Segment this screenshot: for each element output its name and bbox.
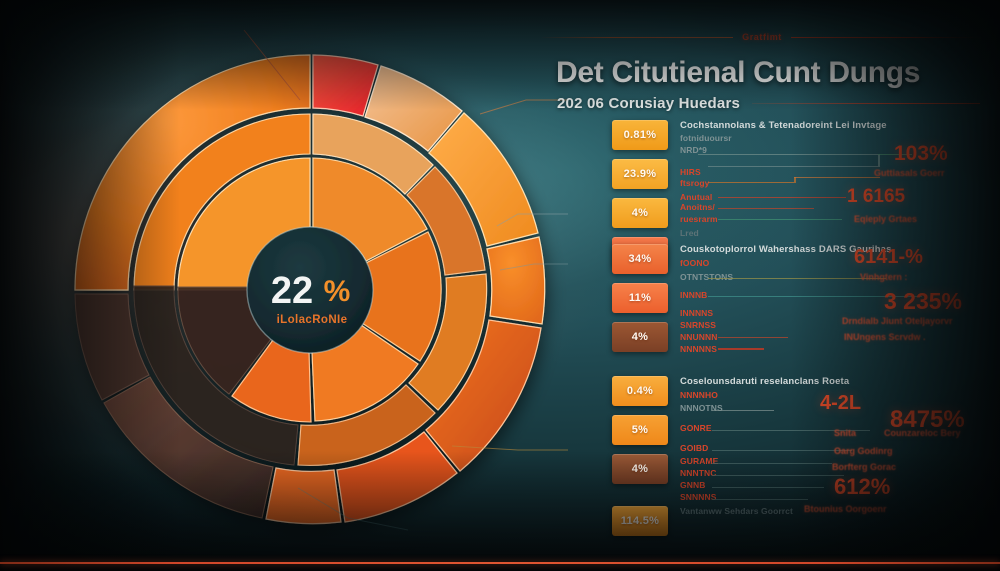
legend-row-text: INNNB (680, 290, 707, 300)
legend-row-text: GONRE (680, 423, 712, 433)
legend-row-text: Lred (680, 228, 699, 238)
legend-badge[interactable]: 4% (612, 322, 668, 352)
legend-row-text: INNNNS (680, 308, 713, 318)
legend-row-text: ftsrogy (680, 178, 710, 188)
legend-connector (718, 348, 764, 350)
legend-row-text: Anutual (680, 192, 712, 202)
legend-badge[interactable]: 11% (612, 283, 668, 313)
legend-badge[interactable]: 5% (612, 415, 668, 445)
legend-badge[interactable]: 4% (612, 198, 668, 228)
center-value: 22 (271, 270, 313, 312)
center-unit: % (324, 275, 351, 308)
legend-badge[interactable]: 0.81% (612, 120, 668, 150)
edge-fade-top (0, 0, 1000, 110)
legend-row-text: ruesrarm (680, 214, 718, 224)
infographic-canvas: 22 % iLolacRoNIe Gratfimt Det Citutienal… (0, 0, 1000, 571)
legend-row-text: OTNTSTONS (680, 272, 733, 282)
legend-row-text: NNUNNN (680, 332, 717, 342)
bottom-accent-rule (0, 562, 1000, 564)
legend-row-text: NNNNNS (680, 344, 717, 354)
legend-connector (708, 182, 794, 183)
legend-row-text: Anoitns/ (680, 202, 715, 212)
legend-row-text: fotniduoursr (680, 133, 732, 143)
outer-segment-5[interactable] (487, 237, 545, 324)
edge-fade-bottom (0, 451, 1000, 571)
legend-badge[interactable]: 34% (612, 244, 668, 274)
legend-row-text: NNNOTNS (680, 403, 723, 413)
legend-row-text: fOONO (680, 258, 709, 268)
legend-badge[interactable]: 0.4% (612, 376, 668, 406)
chart-center-label: 22 % iLolacRoNIe (271, 270, 350, 326)
legend-badge[interactable]: 23.9% (612, 159, 668, 189)
legend-connector (718, 337, 788, 338)
legend-row-text: SNRNSS (680, 320, 716, 330)
legend-connector (712, 410, 774, 411)
center-caption: iLolacRoNIe (277, 314, 348, 326)
legend-row-text: HIRS (680, 167, 701, 177)
legend-row-text: NNNNHO (680, 390, 718, 400)
